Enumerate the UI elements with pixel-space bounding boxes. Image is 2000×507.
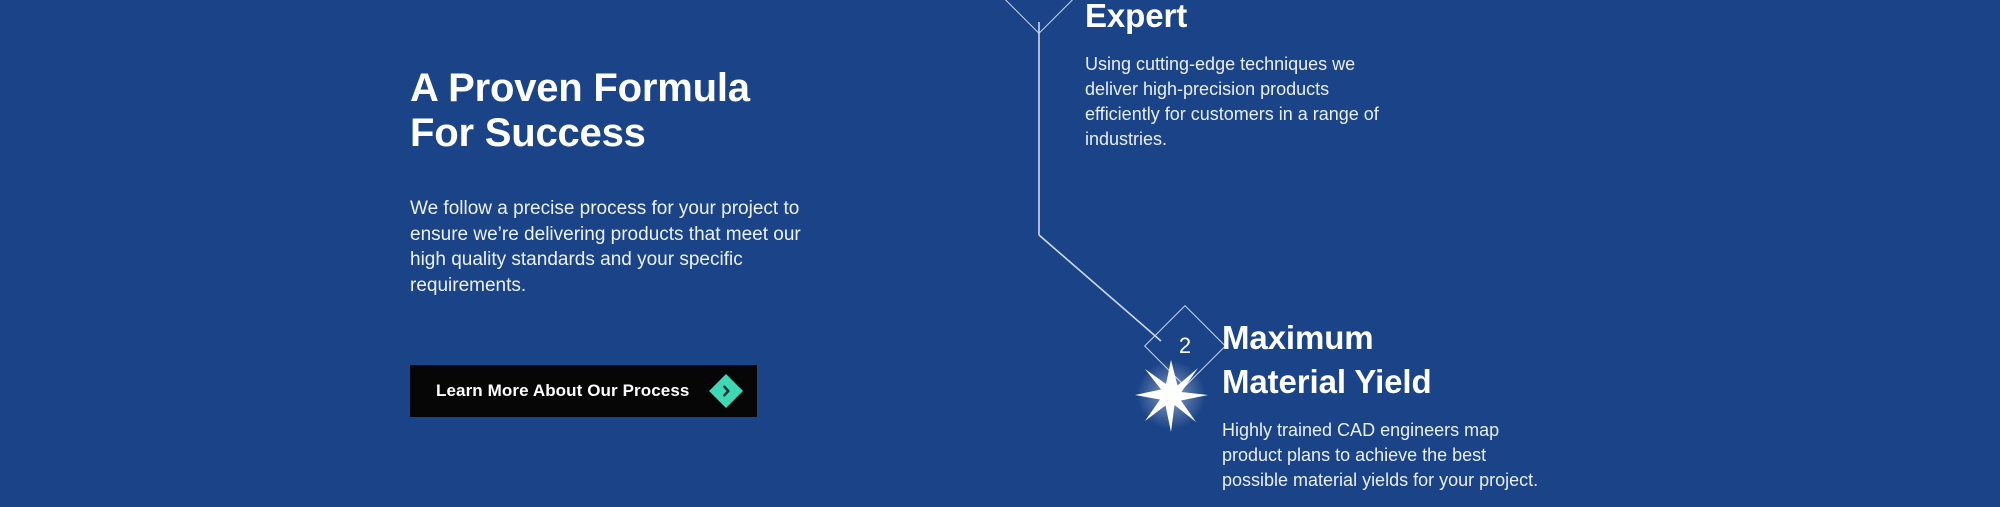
step-marker-1-number: [1010, 0, 1068, 22]
step-1: Expert Using cutting-edge techniques we …: [1085, 0, 1405, 152]
step-2: Maximum Material Yield Highly trained CA…: [1222, 316, 1542, 493]
step-2-description: Highly trained CAD engineers map product…: [1222, 404, 1542, 493]
proven-formula-section: A Proven Formula For Success We follow a…: [0, 0, 2000, 507]
step-marker-2-number: 2: [1156, 317, 1214, 375]
step-1-description: Using cutting-edge techniques we deliver…: [1085, 38, 1405, 152]
learn-more-button[interactable]: Learn More About Our Process: [410, 365, 757, 417]
chevron-right-diamond-icon: [711, 376, 741, 406]
intro-description: We follow a precise process for your pro…: [410, 156, 810, 298]
page-title: A Proven Formula For Success: [410, 66, 810, 156]
step-marker-1: [1010, 0, 1068, 22]
timeline-connector: [0, 0, 2000, 507]
step-2-title: Maximum Material Yield: [1222, 316, 1542, 404]
learn-more-button-label: Learn More About Our Process: [436, 381, 689, 401]
step-marker-2: 2: [1156, 317, 1214, 375]
intro-block: A Proven Formula For Success We follow a…: [410, 66, 810, 298]
step-1-title: Expert: [1085, 0, 1405, 38]
